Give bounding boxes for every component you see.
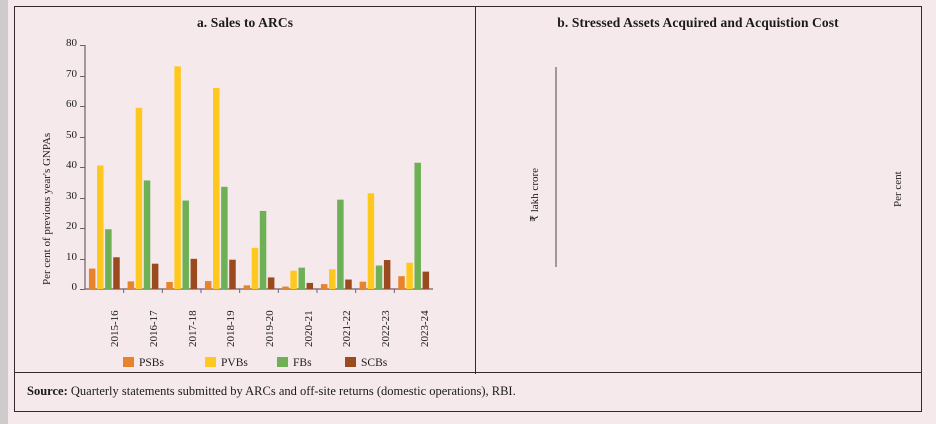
chart-a-x-label: 2022-23 bbox=[380, 310, 392, 347]
chart-a-legend-label: SCBs bbox=[361, 357, 387, 369]
chart-a-y-tick bbox=[80, 167, 85, 168]
chart-a-svg bbox=[85, 45, 433, 289]
chart-b-y-axis-title-left: ₹ lakh crore bbox=[528, 168, 541, 222]
chart-a-y-tick-label: 80 bbox=[47, 37, 77, 49]
chart-a-x-label: 2020-21 bbox=[303, 310, 315, 347]
chart-b-plot-area bbox=[556, 67, 856, 267]
legend-swatch-icon bbox=[277, 357, 288, 367]
legend-swatch-icon bbox=[123, 357, 134, 367]
charts-container: a. Sales to ARCs 01020304050607080 2015-… bbox=[15, 7, 921, 374]
legend-swatch-icon bbox=[345, 357, 356, 367]
chart-a-y-tick bbox=[80, 137, 85, 138]
chart-a-legend-item[interactable]: PSBs bbox=[123, 357, 164, 369]
chart-b-svg bbox=[556, 67, 856, 267]
chart-b-title: b. Stressed Assets Acquired and Acquisti… bbox=[476, 15, 920, 31]
chart-a-x-label: 2016-17 bbox=[148, 310, 160, 347]
chart-a-title: a. Sales to ARCs bbox=[15, 15, 475, 31]
source-bar: Source: Quarterly statements submitted b… bbox=[15, 372, 921, 411]
figure-frame: a. Sales to ARCs 01020304050607080 2015-… bbox=[14, 6, 922, 412]
chart-a-x-label: 2017-18 bbox=[187, 310, 199, 347]
chart-a-y-tick bbox=[80, 198, 85, 199]
chart-a-y-tick bbox=[80, 259, 85, 260]
chart-a-legend-label: PSBs bbox=[139, 357, 164, 369]
figure-root: a. Sales to ARCs 01020304050607080 2015-… bbox=[8, 0, 936, 424]
chart-b-y-axis-title-right: Per cent bbox=[892, 171, 904, 207]
legend-swatch-icon bbox=[205, 357, 216, 367]
chart-a-y-axis-title: Per cent of previous year's GNPAs bbox=[41, 133, 53, 285]
chart-a-y-tick bbox=[80, 228, 85, 229]
chart-a-legend-item[interactable]: PVBs bbox=[205, 357, 248, 369]
chart-a-y-tick bbox=[80, 45, 85, 46]
chart-a-x-label: 2018-19 bbox=[225, 310, 237, 347]
chart-a-y-tick bbox=[80, 76, 85, 77]
chart-a-x-label: 2015-16 bbox=[109, 310, 121, 347]
chart-a-x-label: 2021-22 bbox=[341, 310, 353, 347]
source-label: Source: bbox=[27, 384, 68, 398]
chart-a-legend-label: PVBs bbox=[221, 357, 248, 369]
chart-panel-b: b. Stressed Assets Acquired and Acquisti… bbox=[475, 7, 920, 374]
chart-a-y-tick-label: 60 bbox=[47, 98, 77, 110]
chart-a-x-label: 2023-24 bbox=[419, 310, 431, 347]
chart-a-legend-item[interactable]: SCBs bbox=[345, 357, 387, 369]
chart-a-y-tick bbox=[80, 289, 85, 290]
chart-panel-a: a. Sales to ARCs 01020304050607080 2015-… bbox=[15, 7, 475, 374]
chart-a-y-tick-label: 70 bbox=[47, 68, 77, 80]
chart-a-legend-label: FBs bbox=[293, 357, 312, 369]
chart-a-x-label: 2019-20 bbox=[264, 310, 276, 347]
chart-a-plot-area bbox=[85, 45, 433, 289]
source-note: Source: Quarterly statements submitted b… bbox=[27, 384, 516, 399]
chart-a-y-tick bbox=[80, 106, 85, 107]
chart-a-legend-item[interactable]: FBs bbox=[277, 357, 312, 369]
source-body: Quarterly statements submitted by ARCs a… bbox=[68, 384, 516, 398]
